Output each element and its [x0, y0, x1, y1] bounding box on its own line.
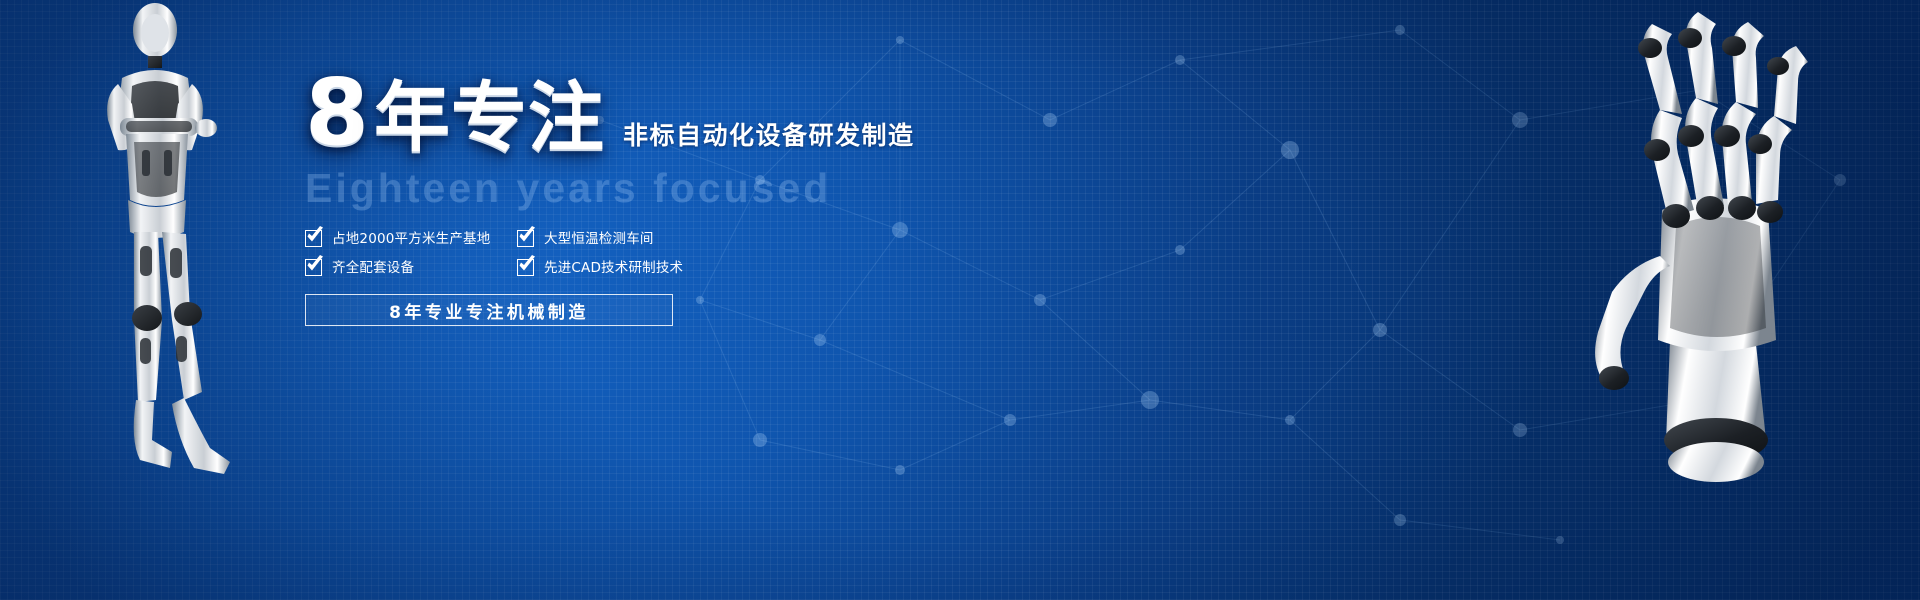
page-title: 8年专注	[305, 75, 605, 156]
humanoid-robot-figure	[60, 0, 280, 490]
headline-number: 8	[305, 59, 374, 166]
english-ghost-text: Eighteen years focused	[305, 166, 1065, 210]
check-icon	[305, 230, 322, 247]
feature-label: 齐全配套设备	[332, 260, 414, 276]
check-icon	[305, 259, 322, 276]
feature-item: 齐全配套设备	[305, 259, 517, 276]
slogan-box: 8年专业专注机械制造	[305, 294, 673, 326]
slogan-text: 8年专业专注机械制造	[389, 298, 589, 323]
feature-label: 先进CAD技术研制技术	[544, 260, 683, 276]
feature-item: 先进CAD技术研制技术	[517, 259, 705, 276]
check-icon	[517, 230, 534, 247]
feature-item: 大型恒温检测车间	[517, 230, 705, 247]
hero-banner: 8年专注 非标自动化设备研发制造 Eighteen years focused …	[0, 0, 1920, 600]
headline-subtitle: 非标自动化设备研发制造	[623, 123, 915, 156]
feature-label: 占地2000平方米生产基地	[332, 231, 490, 247]
feature-label: 大型恒温检测车间	[544, 231, 654, 247]
headline-text: 年专注	[374, 73, 605, 162]
check-icon	[517, 259, 534, 276]
robotic-hand-figure	[1520, 10, 1900, 490]
feature-list: 占地2000平方米生产基地 大型恒温检测车间 齐全配套设备 先进CAD技术研制技…	[305, 230, 705, 276]
feature-item: 占地2000平方米生产基地	[305, 230, 517, 247]
headline-row: 8年专注 非标自动化设备研发制造	[305, 70, 1065, 156]
banner-content: 8年专注 非标自动化设备研发制造 Eighteen years focused …	[305, 70, 1065, 326]
